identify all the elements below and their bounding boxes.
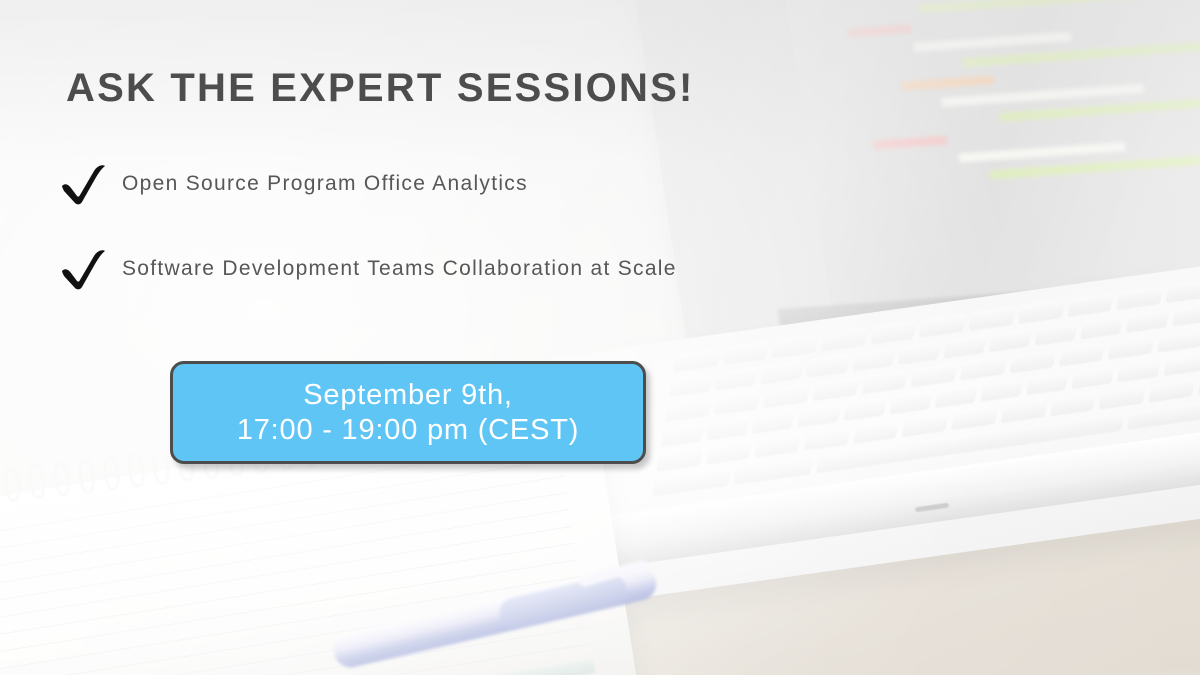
poster-canvas: ASK THE EXPERT SESSIONS! Open Source Pro… (0, 0, 1200, 675)
badge-date-line: September 9th, (303, 378, 513, 412)
list-item-label: Open Source Program Office Analytics (122, 172, 528, 196)
list-item: Software Development Teams Collaboration… (58, 247, 677, 291)
poster-content: ASK THE EXPERT SESSIONS! Open Source Pro… (0, 0, 1200, 675)
list-item-label: Software Development Teams Collaboration… (122, 257, 677, 281)
page-title: ASK THE EXPERT SESSIONS! (66, 66, 694, 111)
date-time-badge: September 9th, 17:00 - 19:00 pm (CEST) (170, 361, 646, 464)
list-item: Open Source Program Office Analytics (58, 162, 528, 206)
badge-time-line: 17:00 - 19:00 pm (CEST) (237, 413, 579, 447)
check-icon (58, 162, 110, 206)
check-icon (58, 247, 110, 291)
